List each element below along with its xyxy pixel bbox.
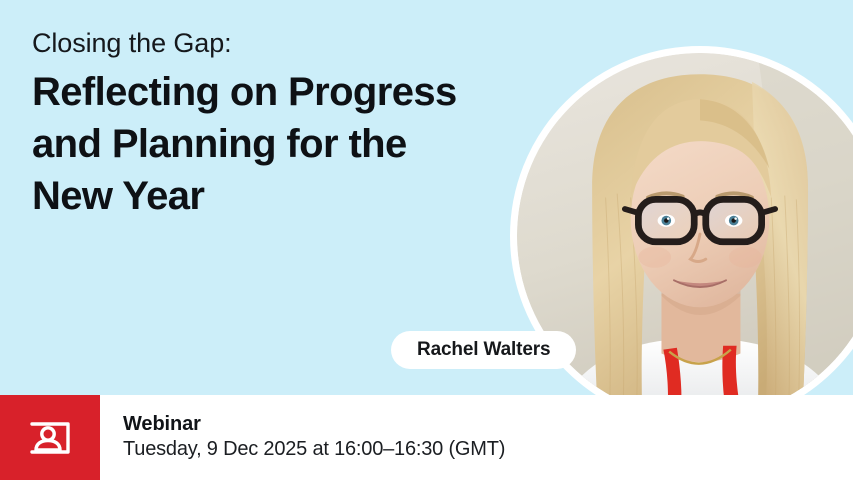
kicker-text: Closing the Gap: <box>32 28 532 60</box>
speaker-name-pill: Rachel Walters <box>391 331 576 369</box>
event-details: Webinar Tuesday, 9 Dec 2025 at 16:00–16:… <box>100 395 853 480</box>
webinar-presenter-icon <box>27 418 73 458</box>
event-type-badge <box>0 395 100 480</box>
headline-block: Closing the Gap: Reflecting on Progress … <box>32 28 532 222</box>
page-title: Reflecting on Progress and Planning for … <box>32 66 532 222</box>
webinar-promo-card: Closing the Gap: Reflecting on Progress … <box>0 0 853 480</box>
speaker-photo <box>510 46 853 426</box>
event-type-label: Webinar <box>123 412 853 436</box>
event-datetime: Tuesday, 9 Dec 2025 at 16:00–16:30 (GMT) <box>123 437 853 463</box>
event-info-bar: Webinar Tuesday, 9 Dec 2025 at 16:00–16:… <box>0 395 853 480</box>
speaker-name: Rachel Walters <box>417 339 550 361</box>
